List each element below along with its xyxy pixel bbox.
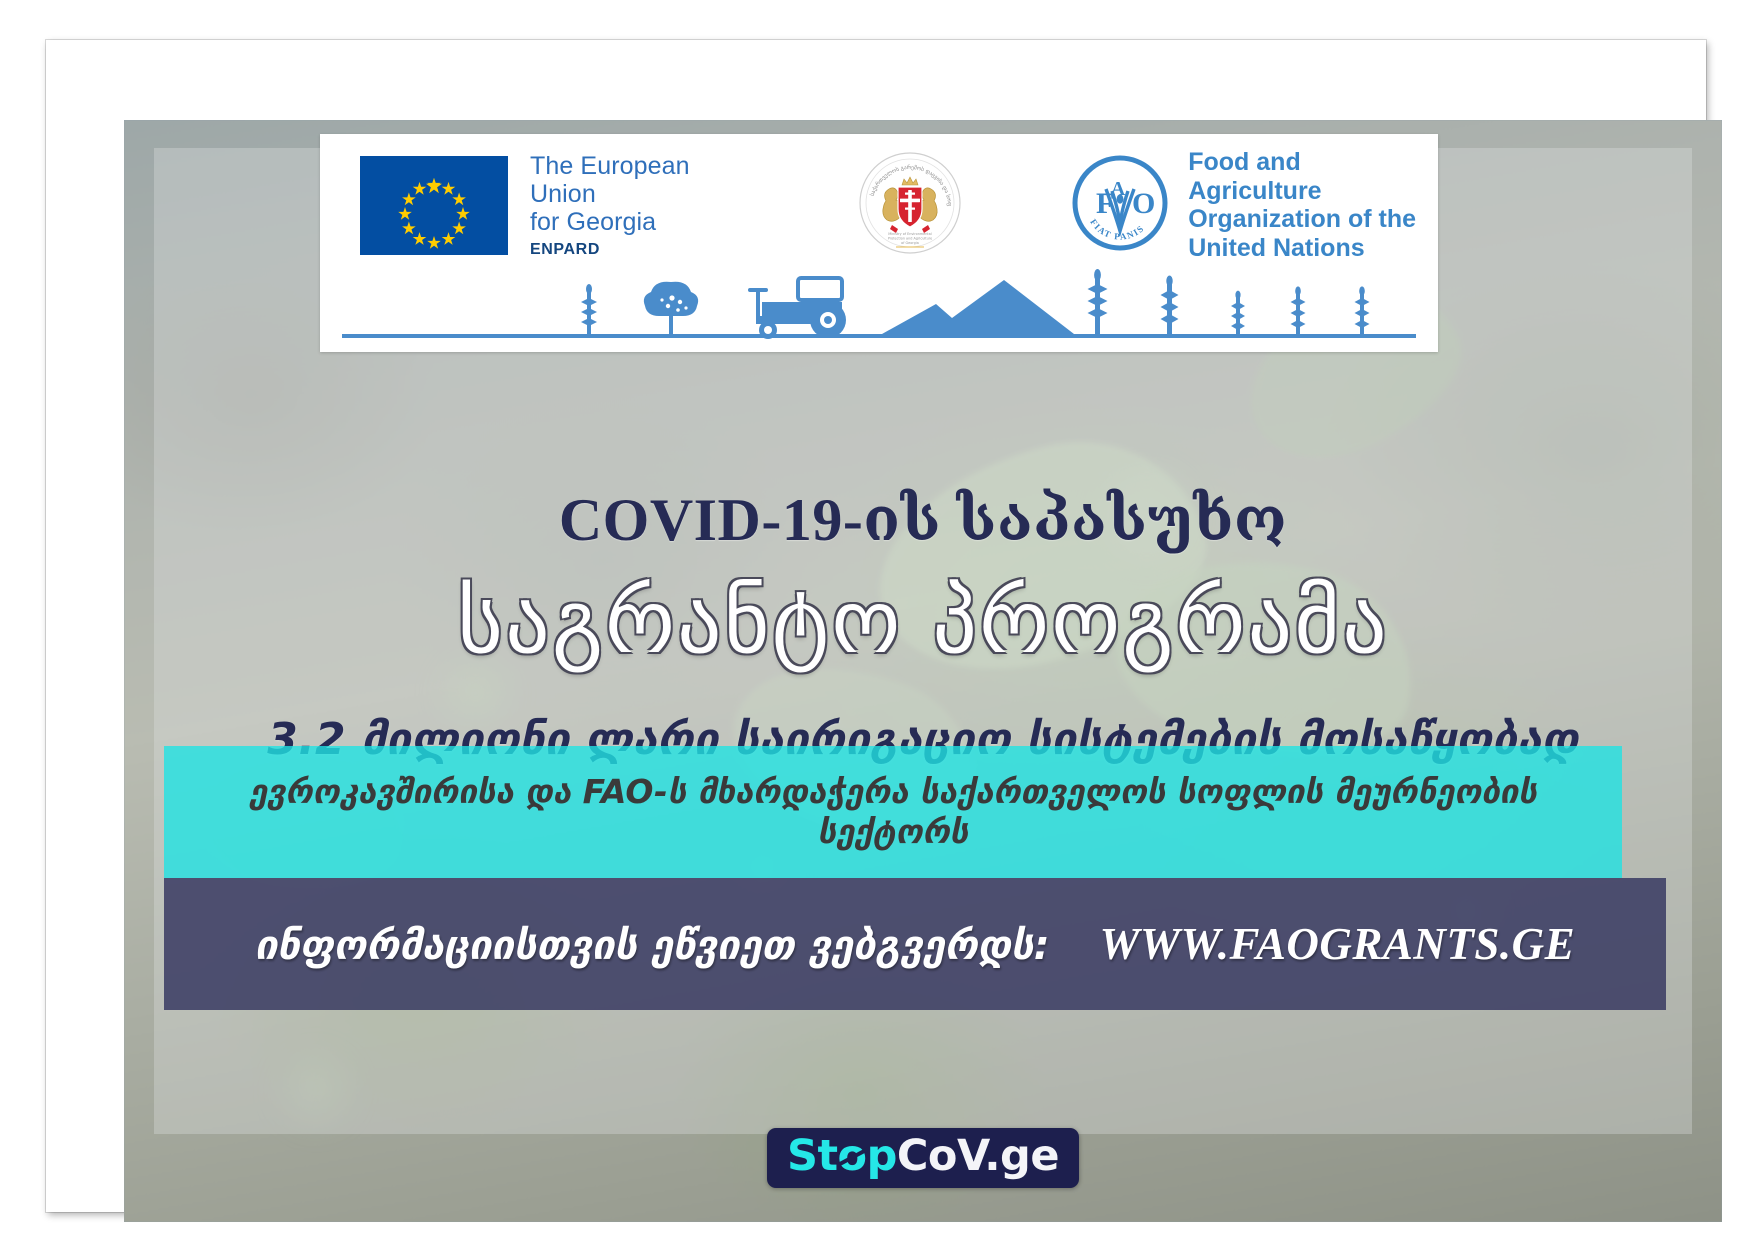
wheat-icon xyxy=(1161,276,1179,335)
tractor-icon xyxy=(748,278,846,339)
wheat-icon xyxy=(1231,291,1245,334)
wheat-icon xyxy=(581,284,597,334)
eu-logo: The European Union for Georgia ENPARD xyxy=(360,152,760,259)
poster-slide: The European Union for Georgia ENPARD სა… xyxy=(124,120,1722,1222)
badge-stop-o: o xyxy=(838,1134,867,1179)
fao-emblem-icon: F A O FIAT PANIS xyxy=(1072,155,1168,255)
eu-line-1: The European Union xyxy=(530,152,760,208)
svg-text:of Georgia: of Georgia xyxy=(901,241,919,245)
badge-stop-st: St xyxy=(787,1131,838,1181)
wheat-icon xyxy=(1291,286,1306,334)
cyan-band-text: ევროკავშირისა და FAO-ს მხარდაჭერა საქართ… xyxy=(164,772,1622,851)
mountains-icon xyxy=(882,280,1074,334)
fao-logo-text: Food and Agriculture Organization of the… xyxy=(1188,148,1438,262)
georgia-ministry-emblem-icon: საქართველოს გარემოს დაცვისა და სოფლის მე… xyxy=(858,151,962,259)
wheat-icon xyxy=(1088,269,1108,334)
navy-band-text: ინფორმაციისთვის ეწვიეთ ვებგვერდს: WWW.FA… xyxy=(219,917,1611,971)
fao-line-2: Organization of the xyxy=(1188,205,1438,234)
svg-text:Ministry of Environmental: Ministry of Environmental xyxy=(888,232,932,236)
enpard-label: ENPARD xyxy=(530,241,760,259)
stopcov-badge[interactable]: StopCoV.ge xyxy=(767,1128,1079,1188)
eu-flag-icon xyxy=(360,156,508,255)
navy-website-band: ინფორმაციისთვის ეწვიეთ ვებგვერდს: WWW.FA… xyxy=(164,878,1666,1010)
badge-cov-ge: CoV.ge xyxy=(897,1131,1059,1181)
logo-header-card: The European Union for Georgia ENPARD სა… xyxy=(320,134,1438,352)
page-sheet: The European Union for Georgia ENPARD სა… xyxy=(46,40,1706,1212)
fao-line-3: United Nations xyxy=(1188,234,1438,263)
navy-band-prefix: ინფორმაციისთვის ეწვიეთ ვებგვერდს: xyxy=(237,923,1082,969)
eu-logo-text: The European Union for Georgia ENPARD xyxy=(530,152,760,259)
eu-line-2: for Georgia xyxy=(530,208,760,236)
logo-row: The European Union for Georgia ENPARD სა… xyxy=(320,142,1438,268)
enpard-illustration-strip xyxy=(342,268,1416,342)
page-title: საგრანტო პროგრამა xyxy=(124,570,1722,673)
svg-text:O: O xyxy=(1132,187,1155,220)
fao-logo: F A O FIAT PANIS xyxy=(1072,148,1438,262)
badge-stop-p: p xyxy=(867,1131,897,1181)
wheat-icon xyxy=(1355,286,1370,334)
fao-line-1: Food and Agriculture xyxy=(1188,148,1438,205)
website-url[interactable]: WWW.FAOGRANTS.GE xyxy=(1082,919,1594,969)
svg-text:Protection and Agriculture: Protection and Agriculture xyxy=(888,236,932,240)
tree-icon xyxy=(644,282,698,334)
eyebrow-heading: COVID-19-ის საპასუხო xyxy=(124,485,1722,555)
cyan-message-band: ევროკავშირისა და FAO-ს მხარდაჭერა საქართ… xyxy=(164,746,1622,878)
